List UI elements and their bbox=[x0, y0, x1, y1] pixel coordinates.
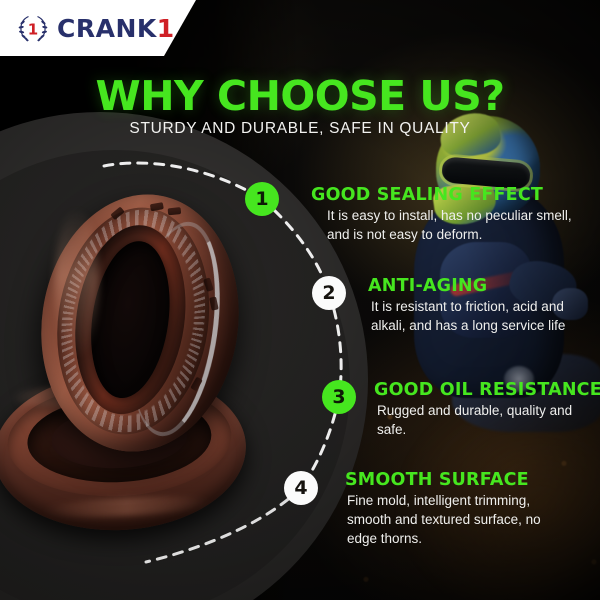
page-title: WHY CHOOSE US? bbox=[0, 76, 600, 117]
feature-heading-2: ANTI-AGING bbox=[368, 278, 487, 296]
feature-body-3: Rugged and durable, quality and safe. bbox=[377, 401, 587, 439]
feature-body-1: It is easy to install, has no peculiar s… bbox=[327, 206, 577, 244]
feature-body-4: Fine mold, intelligent trimming, smooth … bbox=[347, 491, 572, 548]
feature-badge-1: 1 bbox=[245, 182, 279, 216]
brand-name-main: CRANK bbox=[57, 14, 157, 43]
feature-heading-3: GOOD OIL RESISTANCE bbox=[374, 382, 600, 400]
oil-seal-standing bbox=[25, 182, 255, 465]
seal-sheen bbox=[55, 209, 99, 359]
feature-badge-2: 2 bbox=[312, 276, 346, 310]
feature-badge-3: 3 bbox=[322, 380, 356, 414]
feature-heading-1: GOOD SEALING EFFECT bbox=[311, 187, 543, 205]
feature-heading-4: SMOOTH SURFACE bbox=[345, 472, 529, 490]
brand-logo: 1 CRANK1 bbox=[0, 12, 175, 44]
laurel-wreath-number-one-icon: 1 bbox=[16, 12, 50, 44]
svg-text:1: 1 bbox=[28, 21, 38, 39]
brand-name: CRANK1 bbox=[57, 16, 175, 41]
infographic-canvas: 1 CRANK1 WHY CHOOSE US? STURDY AND DURAB… bbox=[0, 0, 600, 600]
brand-name-accent: 1 bbox=[157, 14, 175, 43]
page-subtitle: STURDY AND DURABLE, SAFE IN QUALITY bbox=[0, 120, 600, 138]
brand-logo-banner[interactable]: 1 CRANK1 bbox=[0, 0, 196, 56]
oil-seal-icon bbox=[0, 180, 265, 540]
feature-body-2: It is resistant to friction, acid and al… bbox=[371, 297, 591, 335]
feature-badge-4: 4 bbox=[284, 471, 318, 505]
seal-notch bbox=[168, 207, 182, 215]
